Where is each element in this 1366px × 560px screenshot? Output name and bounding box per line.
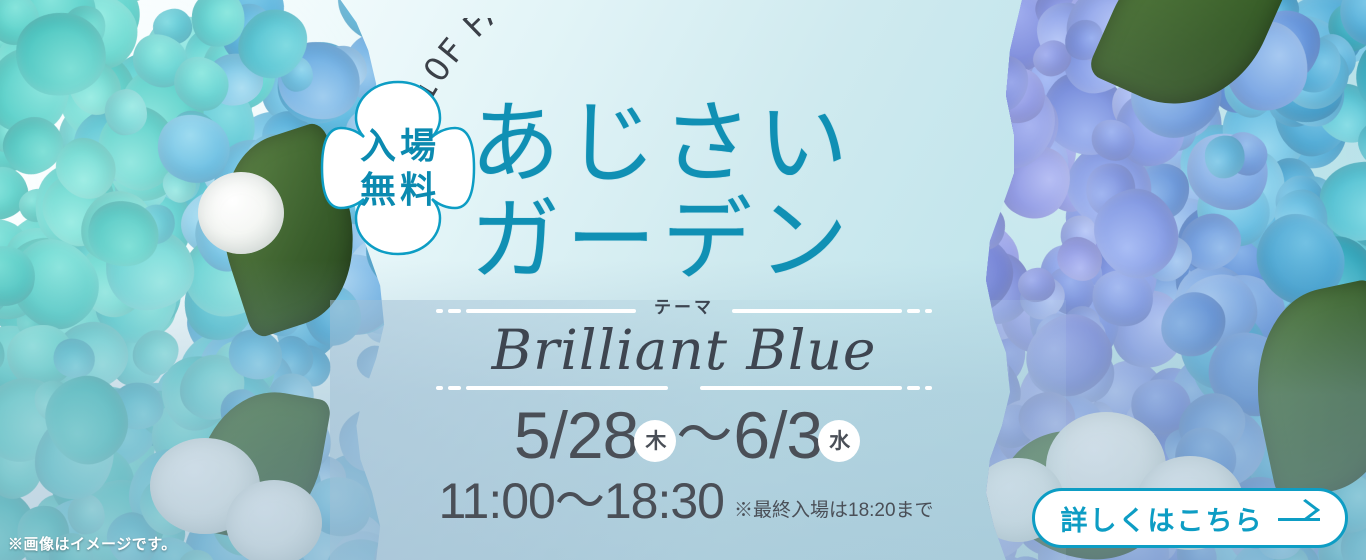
image-disclaimer: ※画像はイメージです。 [8, 533, 177, 554]
rule-dash [925, 386, 932, 390]
rule-dash [436, 309, 443, 313]
details-button-label: 詳しくはこちら [1061, 499, 1264, 538]
date-range: 5/28 木 〜 6/3 水 [436, 402, 936, 468]
rule-dash [436, 386, 443, 390]
details-button[interactable]: 詳しくはこちら [1032, 488, 1348, 548]
start-day-of-week: 木 [634, 420, 676, 462]
badge-line-1: 入場 [356, 126, 440, 166]
theme-divider-bottom [436, 385, 932, 391]
start-date: 5/28 [514, 402, 638, 468]
badge-line-2: 無料 [356, 170, 440, 210]
rule-dash [448, 386, 461, 390]
event-title: あじさい ガーデン [470, 96, 854, 290]
rule-dash [448, 309, 461, 313]
opening-hours: 11:00〜18:30 [438, 476, 724, 526]
free-admission-badge: 入場 無料 [318, 76, 478, 260]
rule-line [732, 309, 902, 313]
theme-block: テーマ Brilliant Blue [436, 308, 932, 391]
hydrangea-photo-right [966, 0, 1366, 560]
end-date: 6/3 [733, 402, 822, 468]
schedule-block: 5/28 木 〜 6/3 水 11:00〜18:30 ※最終入場は18:20まで [436, 402, 936, 526]
arrow-right-icon [1278, 509, 1320, 527]
event-title-line-2: ガーデン [470, 193, 854, 290]
end-day-of-week: 水 [818, 420, 860, 462]
theme-name: Brilliant Blue [436, 318, 932, 383]
rule-dash [907, 386, 920, 390]
theme-label: テーマ [644, 293, 724, 318]
event-title-line-1: あじさい [470, 96, 854, 193]
rule-line [700, 386, 902, 390]
last-entry-note: ※最終入場は18:20まで [734, 501, 934, 520]
rule-dash [907, 309, 920, 313]
rule-line [466, 386, 668, 390]
date-range-mark: 〜 [676, 407, 731, 463]
rule-line [466, 309, 636, 313]
ajisai-garden-banner: 10F FANCL Sky Garden 入場 無料 あじさい ガーデン [0, 0, 1366, 560]
theme-divider-top: テーマ [436, 308, 932, 314]
rule-dash [925, 309, 932, 313]
hours-row: 11:00〜18:30 ※最終入場は18:20まで [436, 476, 936, 526]
